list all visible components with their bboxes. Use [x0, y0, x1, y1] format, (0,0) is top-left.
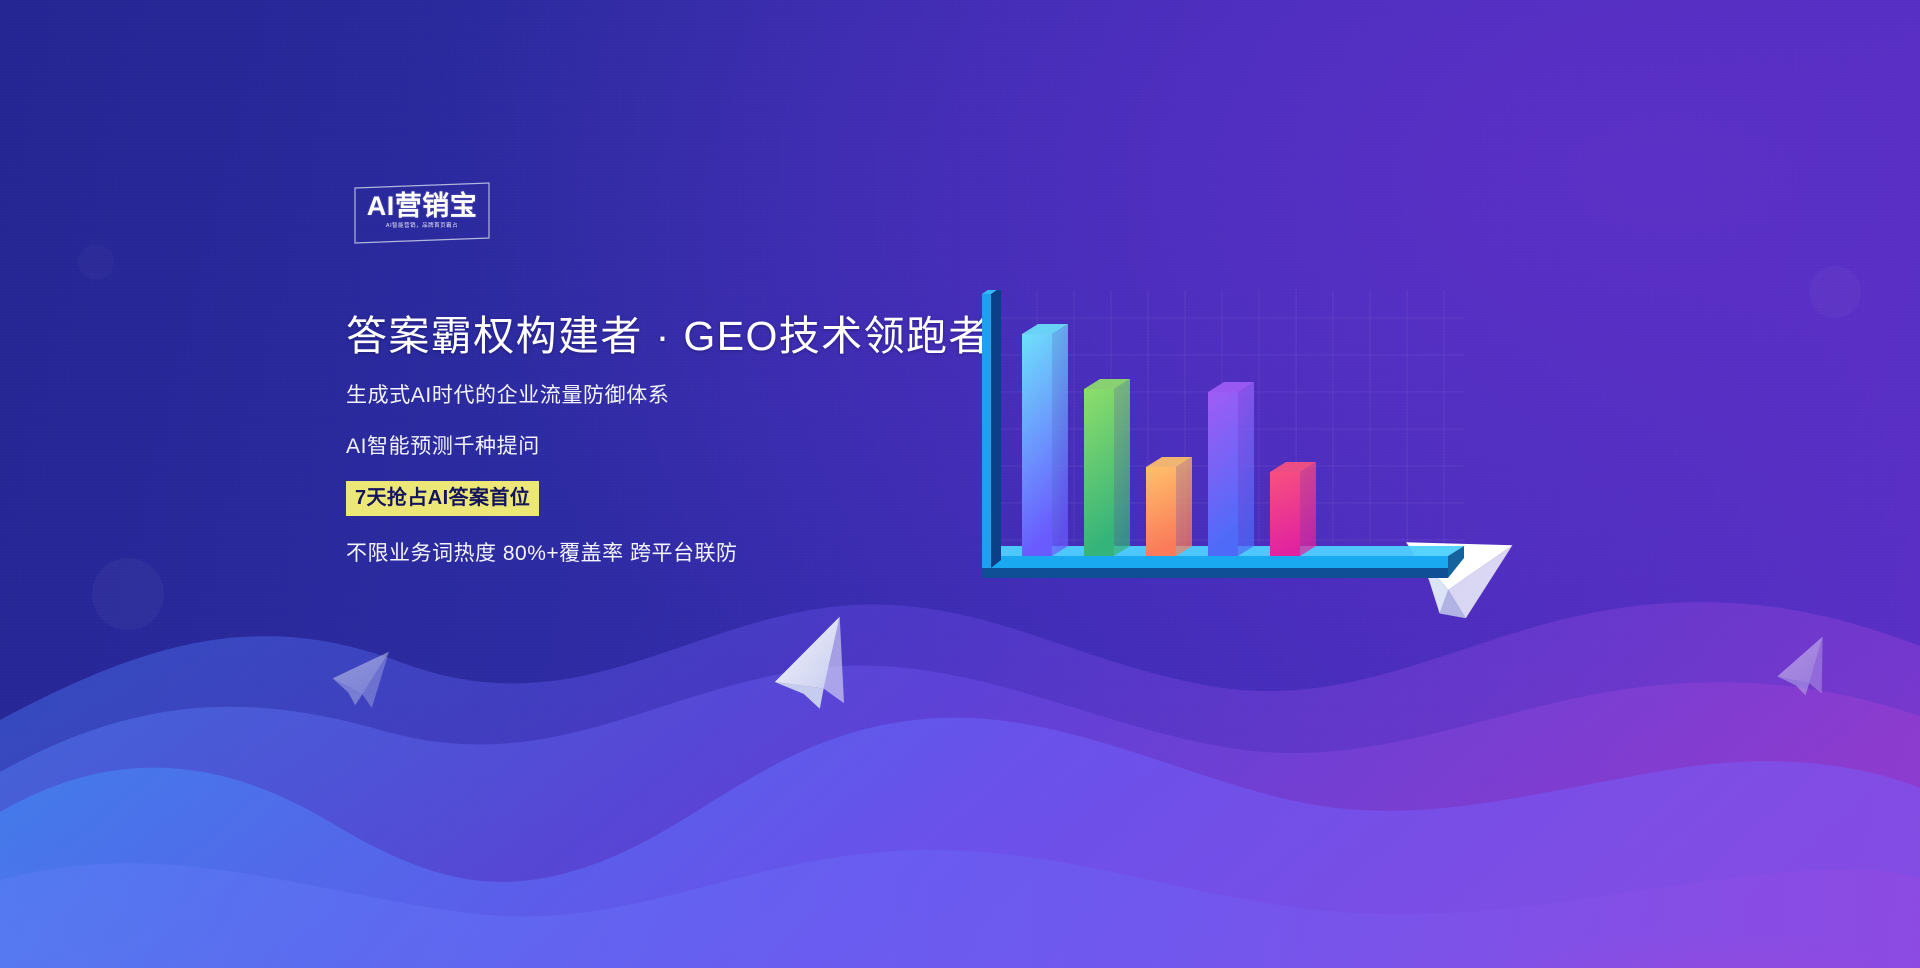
logo[interactable]: AI营销宝 AI智能营销，品牌首页霸占 [352, 182, 492, 244]
hero-subtitle-1: 生成式AI时代的企业流量防御体系 [346, 382, 1066, 409]
decor-circle-1 [92, 558, 164, 630]
chart-bar [1146, 457, 1192, 556]
decor-circle-3 [78, 244, 114, 280]
chart-bar [1270, 462, 1316, 556]
hero-banner: AI营销宝 AI智能营销，品牌首页霸占 答案霸权构建者 · GEO技术领跑者 生… [0, 0, 1920, 968]
logo-tagline: AI智能营销，品牌首页霸占 [352, 224, 492, 230]
decor-circle-2 [1809, 266, 1861, 318]
chart-bar [1084, 379, 1130, 556]
logo-wordmark: AI营销宝 [352, 193, 492, 220]
hero-copy: 答案霸权构建者 · GEO技术领跑者 生成式AI时代的企业流量防御体系 AI智能… [346, 312, 1066, 567]
hero-subtitle-3: 不限业务词热度 80%+覆盖率 跨平台联防 [346, 540, 1066, 567]
chart-bar [1208, 382, 1254, 556]
page-title: 答案霸权构建者 · GEO技术领跑者 [346, 312, 1066, 360]
chart-y-axis [982, 290, 1001, 568]
hero-subtitle-2: AI智能预测千种提问 [346, 433, 1066, 460]
chart-bar [1022, 324, 1068, 556]
highlight-badge: 7天抢占AI答案首位 [346, 481, 539, 516]
bar-chart-illustration [960, 290, 1480, 670]
hero-highlight-row: 7天抢占AI答案首位 [346, 481, 1066, 516]
